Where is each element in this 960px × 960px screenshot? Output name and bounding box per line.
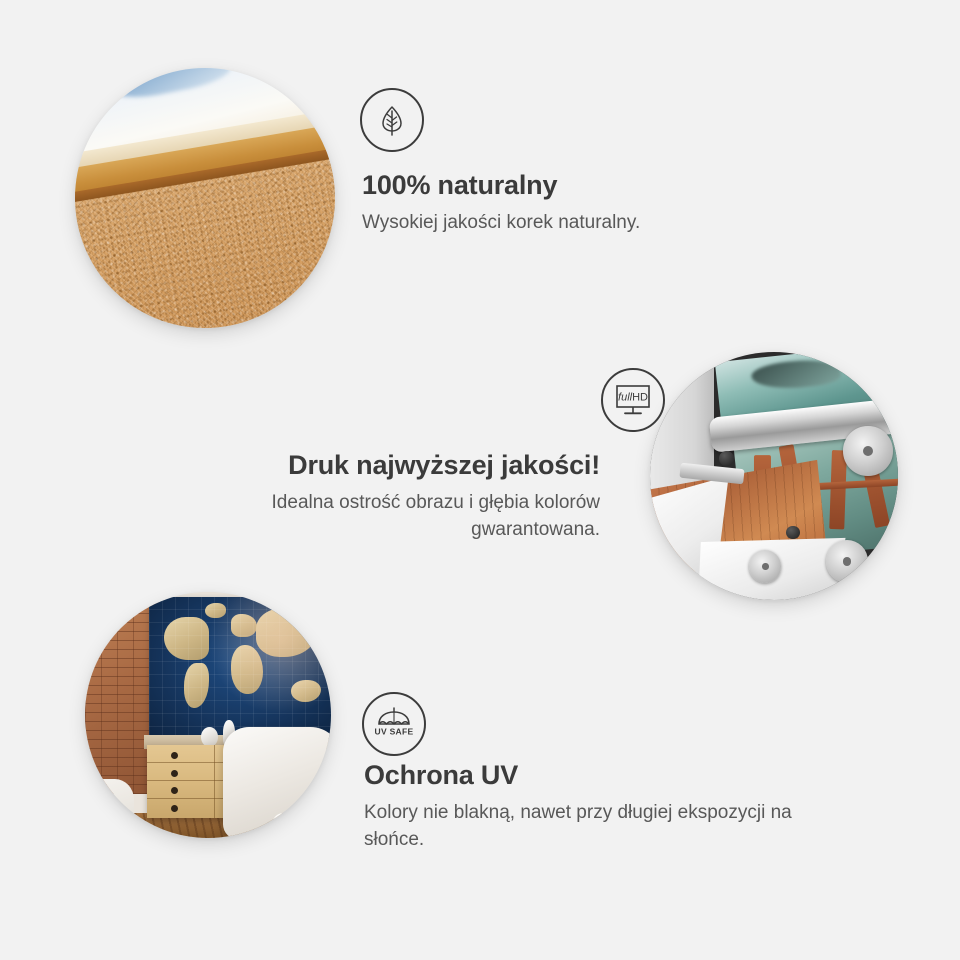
svg-text:fullHD: fullHD xyxy=(618,391,648,403)
cork-board-photo xyxy=(75,68,335,328)
feature-print-description: Idealna ostrość obrazu i głębia kolorów … xyxy=(180,490,600,544)
feature-uv-description: Kolory nie blakną, nawet przy długiej ek… xyxy=(364,800,849,854)
fullhd-monitor-icon: fullHD xyxy=(601,368,665,432)
promo-features-page: 100% naturalny Wysokiej jakości korek na… xyxy=(0,0,960,960)
fullhd-regular-label: HD xyxy=(632,391,648,403)
armchair-arm xyxy=(272,813,324,836)
uv-safe-umbrella-icon: UV SAFE xyxy=(362,692,426,756)
feature-natural-description: Wysokiej jakości korek naturalny. xyxy=(362,210,762,237)
white-armchair-secondary xyxy=(85,779,134,838)
press-wheel xyxy=(826,540,868,582)
feature-natural-title: 100% naturalny xyxy=(362,170,557,201)
drawer-knob xyxy=(171,770,178,777)
room-light-glow xyxy=(208,592,331,715)
drawer-divider xyxy=(214,745,215,819)
press-wheel xyxy=(749,550,781,582)
press-knob xyxy=(786,526,800,540)
drawer-knob xyxy=(171,805,178,812)
uv-safe-label: UV SAFE xyxy=(375,727,414,737)
feature-uv-title: Ochrona UV xyxy=(364,760,518,791)
fullhd-italic-label: full xyxy=(618,391,633,403)
white-armchair xyxy=(223,727,331,838)
leaf-icon xyxy=(360,88,424,152)
drawer-knob xyxy=(171,752,178,759)
feature-print-title: Druk najwyższej jakości! xyxy=(288,450,600,481)
drawer-knob xyxy=(171,787,178,794)
interior-room-photo xyxy=(85,592,331,838)
press-wheel xyxy=(843,426,893,476)
printing-machine-photo xyxy=(650,352,898,600)
